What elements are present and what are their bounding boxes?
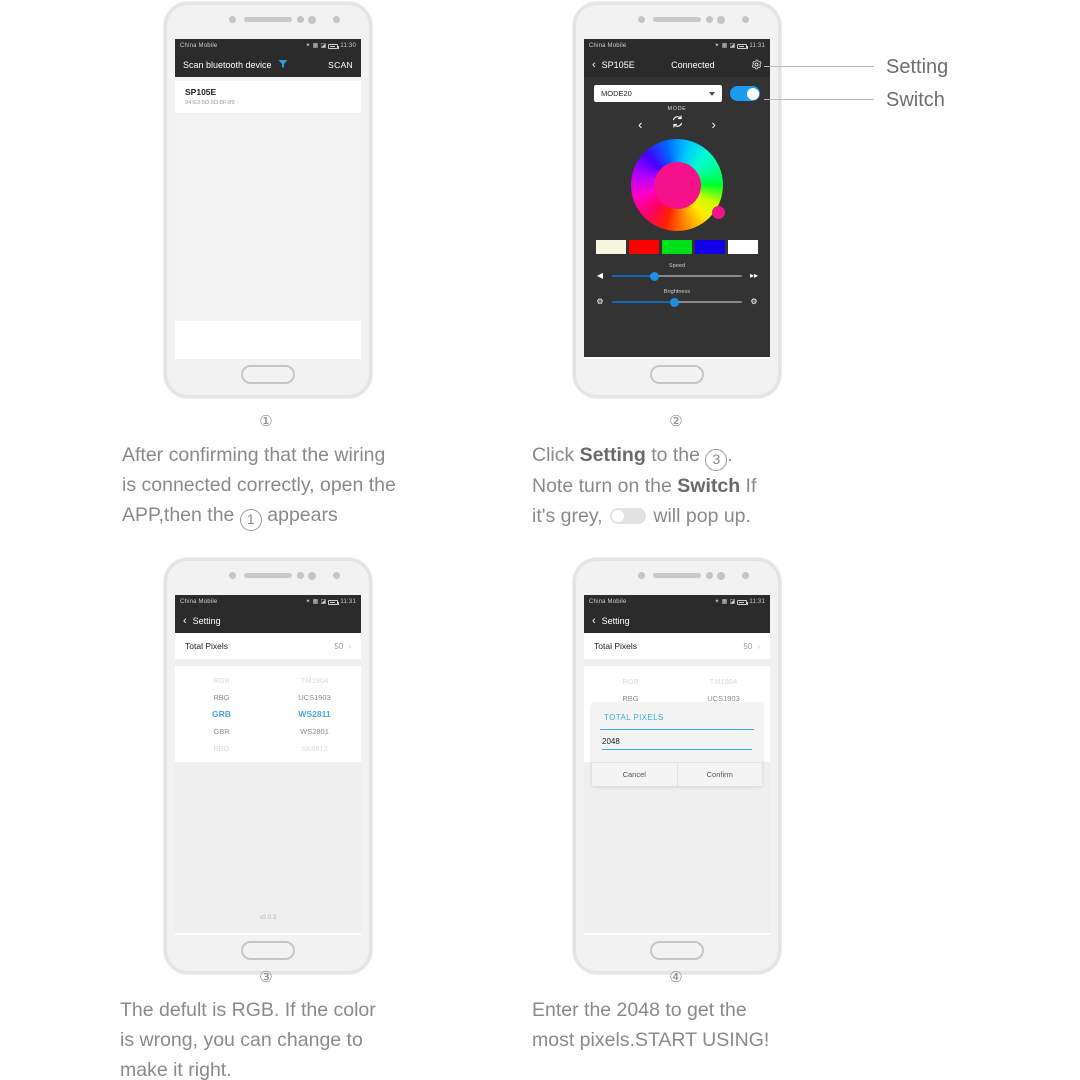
swatch-blue[interactable]	[695, 240, 725, 254]
earpiece-speaker	[244, 17, 292, 22]
sensor-dot-icon	[229, 572, 236, 579]
step-number-2: ②	[646, 412, 706, 430]
appbar-title: Scan bluetooth device	[183, 60, 272, 70]
caption-line: Click Setting to the 3.	[532, 440, 912, 471]
battery-icon	[737, 600, 747, 605]
swatch-warmwhite[interactable]	[596, 240, 626, 254]
sensor-dot-icon	[717, 16, 725, 24]
setting-appbar: ‹ Setting	[175, 609, 361, 633]
phone-bottom-bezel	[167, 359, 369, 395]
color-preview-circle	[654, 162, 701, 209]
clock-label: 11:31	[749, 43, 765, 49]
phone-2: China Mobile ✴ ▦ ◪ 11:31 ‹ SP105E Connec…	[573, 2, 781, 398]
battery-icon	[737, 44, 747, 49]
inline-step-marker: 1	[240, 509, 262, 531]
caption-line: The defult is RGB. If the color	[120, 995, 500, 1025]
earpiece-speaker	[653, 17, 701, 22]
funnel-icon[interactable]	[278, 59, 288, 71]
battery-icon	[328, 600, 338, 605]
picker-columns: RGB RBG GRB GBR BRG TM1804 UCS1903 WS281…	[175, 666, 361, 762]
total-pixels-dialog: TOTAL PIXELS 2048 Cancel Confirm	[592, 703, 762, 786]
color-swatch-row	[594, 240, 760, 254]
total-pixels-label: Total Pixels	[594, 641, 637, 651]
picker-item[interactable]: SK6812	[301, 741, 328, 756]
sensor-dot-icon	[638, 16, 645, 23]
back-label[interactable]: SP105E	[602, 60, 635, 70]
sensor-dot-icon	[308, 16, 316, 24]
step-number-4: ④	[646, 968, 706, 986]
step-number-1: ①	[236, 412, 296, 430]
dialog-divider	[600, 729, 754, 730]
front-camera-icon	[742, 572, 749, 579]
total-pixels-value: 50	[334, 642, 343, 651]
picker-item[interactable]: GBR	[213, 724, 229, 739]
caption-line: it's grey, will pop up.	[532, 501, 912, 531]
carrier-label: China Mobile	[589, 599, 626, 605]
gear-icon[interactable]: ⚙	[748, 298, 760, 306]
sim-icon: ▦	[313, 599, 319, 605]
brightness-slider-block: Brightness ⚙ ⚙	[594, 289, 760, 306]
earpiece-speaker	[244, 573, 292, 578]
callout-line-setting	[764, 66, 874, 67]
refresh-icon[interactable]	[671, 115, 684, 133]
caption-text: If	[746, 475, 757, 497]
chevron-right-icon: ›	[757, 642, 760, 651]
setting-title: Setting	[602, 616, 630, 626]
picker-column-order[interactable]: RGB RBG GRB GBR BRG	[175, 666, 268, 762]
caption-text: it's grey,	[532, 505, 603, 527]
clock-label: 11:30	[340, 43, 356, 49]
sim-icon: ▦	[722, 43, 728, 49]
picker-item[interactable]: RGB	[213, 673, 229, 688]
chevron-right-icon: ›	[348, 642, 351, 651]
speed-row: ◀ ▸▸	[594, 272, 760, 280]
phone-2-screen: China Mobile ✴ ▦ ◪ 11:31 ‹ SP105E Connec…	[584, 39, 770, 359]
sensor-dot-icon	[706, 16, 713, 23]
back-icon[interactable]: ‹	[592, 615, 596, 627]
picker-item-selected[interactable]: WS2811	[298, 707, 330, 722]
speed-thumb[interactable]	[650, 272, 659, 281]
caption-line: After confirming that the wiring	[122, 440, 492, 470]
signal-icon: ◪	[730, 43, 736, 49]
bluetooth-icon: ✴	[714, 43, 719, 49]
total-pixels-row[interactable]: Total Pixels 50 ›	[584, 633, 770, 659]
front-camera-icon	[333, 16, 340, 23]
home-button[interactable]	[650, 365, 704, 384]
phone-bottom-bezel	[576, 935, 778, 971]
phone-3: China Mobile ✴ ▦ ◪ 11:31 ‹ Setting Total…	[164, 558, 372, 974]
callout-line-switch	[764, 99, 874, 100]
step-number-3: ③	[236, 968, 296, 986]
cancel-button[interactable]: Cancel	[592, 763, 677, 786]
caption-emphasis: Setting	[580, 444, 646, 466]
setting-appbar: ‹ Setting	[584, 609, 770, 633]
setting-body: Total Pixels 50 › RGB RBG GRB GBR BRG	[175, 633, 361, 933]
speed-fill	[612, 275, 655, 277]
swatch-green[interactable]	[662, 240, 692, 254]
status-icons: ✴ ▦ ◪ 11:31	[714, 599, 765, 605]
bluetooth-icon: ✴	[714, 599, 719, 605]
picker-item-selected[interactable]: GRB	[212, 707, 231, 722]
app-version-label: v2.0.3	[175, 915, 361, 921]
caption-text: APP,then the	[122, 504, 234, 526]
mode-value: MODE20	[601, 89, 632, 98]
phone-bottom-bezel	[576, 359, 778, 395]
status-bar: China Mobile ✴ ▦ ◪ 11:31	[584, 39, 770, 53]
phone-4-screen: China Mobile ✴ ▦ ◪ 11:31 ‹ Setting Total…	[584, 595, 770, 935]
step-caption-4: Enter the 2048 to get the most pixels.ST…	[532, 995, 912, 1055]
brightness-label: Brightness	[594, 289, 760, 295]
total-pixels-label: Total Pixels	[185, 641, 228, 651]
confirm-button[interactable]: Confirm	[677, 763, 763, 786]
caption-line: most pixels.START USING!	[532, 1025, 912, 1055]
picker-item[interactable]: TM1804	[710, 674, 738, 689]
brightness-fill	[612, 301, 674, 303]
inline-step-marker: 3	[705, 449, 727, 471]
swatch-white[interactable]	[728, 240, 758, 254]
sensor-dot-icon	[308, 572, 316, 580]
phone-top-bezel	[167, 561, 369, 595]
brightness-row: ⚙ ⚙	[594, 298, 760, 306]
setting-title: Setting	[193, 616, 221, 626]
sim-icon: ▦	[722, 599, 728, 605]
phone-top-bezel	[576, 561, 778, 595]
caption-line: is connected correctly, open the	[122, 470, 492, 500]
picker-item[interactable]: BRG	[213, 741, 229, 756]
caption-line: APP,then the 1 appears	[122, 500, 492, 531]
sensor-dot-icon	[297, 572, 304, 579]
picker-item[interactable]: RBG	[213, 690, 229, 705]
signal-icon: ◪	[321, 599, 327, 605]
dialog-title: TOTAL PIXELS	[592, 713, 762, 729]
caption-text: Note turn on the	[532, 475, 672, 497]
status-icons: ✴ ▦ ◪ 11:31	[714, 43, 765, 49]
callout-label-setting: Setting	[886, 56, 948, 79]
step-caption-3: The defult is RGB. If the color is wrong…	[120, 995, 500, 1080]
picker-column-chip[interactable]: TM1804 UCS1903 WS2811 WS2801 SK6812	[268, 666, 361, 762]
gear-icon[interactable]	[751, 59, 762, 72]
dialog-actions: Cancel Confirm	[592, 762, 762, 786]
carrier-label: China Mobile	[180, 43, 217, 49]
phone-1-screen: China Mobile ✴ ▦ ◪ 11:30 Scan bluetooth …	[175, 39, 361, 359]
setting-body: Total Pixels 50 › RGB RBG TM1804 UCS1903	[584, 633, 770, 933]
status-bar: China Mobile ✴ ▦ ◪ 11:31	[584, 595, 770, 609]
chevron-right-icon[interactable]: ›	[712, 118, 716, 131]
sensor-dot-icon	[229, 16, 236, 23]
carrier-label: China Mobile	[589, 43, 626, 49]
speed-slider[interactable]	[612, 275, 742, 277]
sensor-dot-icon	[297, 16, 304, 23]
chip-type-picker[interactable]: RGB RBG GRB GBR BRG TM1804 UCS1903 WS281…	[175, 666, 361, 762]
connection-title: Connected	[671, 60, 715, 70]
battery-icon	[328, 44, 338, 49]
picker-item[interactable]: RGB	[622, 674, 638, 689]
speed-label: Speed	[594, 263, 760, 269]
caption-emphasis: Switch	[677, 475, 740, 497]
toggle-knob	[747, 88, 759, 100]
color-wheel-thumb[interactable]	[712, 206, 725, 219]
phone-top-bezel	[167, 5, 369, 39]
caption-line: Note turn on the Switch If	[532, 471, 912, 501]
device-list: SP105E 94:E3:5D:5D:8F:89	[175, 77, 361, 321]
controller-panel: MODE20 MODE ‹ ›	[584, 77, 770, 357]
back-icon[interactable]: ‹	[592, 59, 596, 71]
caption-line: is wrong, you can change to	[120, 1025, 500, 1055]
caption-text: .	[727, 444, 732, 466]
home-button[interactable]	[650, 941, 704, 960]
mode-caption: MODE	[594, 106, 760, 112]
fast-forward-icon[interactable]: ▸▸	[748, 272, 760, 280]
device-mac: 94:E3:5D:5D:8F:89	[185, 100, 351, 106]
picker-item[interactable]: WS2801	[300, 724, 329, 739]
status-bar: China Mobile ✴ ▦ ◪ 11:31	[175, 595, 361, 609]
rewind-icon[interactable]: ◀	[594, 272, 606, 280]
brightness-thumb[interactable]	[670, 298, 679, 307]
list-item[interactable]: SP105E 94:E3:5D:5D:8F:89	[175, 81, 361, 114]
sun-icon[interactable]: ⚙	[594, 298, 606, 306]
phone-4: China Mobile ✴ ▦ ◪ 11:31 ‹ Setting Total…	[573, 558, 781, 974]
mode-select[interactable]: MODE20	[594, 85, 722, 102]
swatch-red[interactable]	[629, 240, 659, 254]
scan-appbar: Scan bluetooth device SCAN	[175, 53, 361, 77]
picker-item[interactable]: UCS1903	[298, 690, 331, 705]
mode-nav-row: ‹ ›	[594, 115, 760, 133]
control-appbar: ‹ SP105E Connected	[584, 53, 770, 77]
status-icons: ✴ ▦ ◪ 11:31	[305, 599, 356, 605]
home-button[interactable]	[241, 365, 295, 384]
picker-item[interactable]: TM1804	[301, 673, 329, 688]
sensor-dot-icon	[638, 572, 645, 579]
clock-label: 11:31	[749, 599, 765, 605]
front-camera-icon	[742, 16, 749, 23]
status-bar: China Mobile ✴ ▦ ◪ 11:30	[175, 39, 361, 53]
sim-icon: ▦	[313, 43, 319, 49]
color-wheel-wrap	[594, 139, 760, 231]
total-pixels-input[interactable]: 2048	[602, 737, 752, 750]
signal-icon: ◪	[321, 43, 327, 49]
carrier-label: China Mobile	[180, 599, 217, 605]
phone-3-screen: China Mobile ✴ ▦ ◪ 11:31 ‹ Setting Total…	[175, 595, 361, 935]
signal-icon: ◪	[730, 599, 736, 605]
phone-top-bezel	[576, 5, 778, 39]
speed-slider-block: Speed ◀ ▸▸	[594, 263, 760, 280]
phone-bottom-bezel	[167, 935, 369, 971]
bluetooth-icon: ✴	[305, 43, 310, 49]
mode-bar: MODE20	[594, 85, 760, 102]
total-pixels-value: 50	[743, 642, 752, 651]
chevron-left-icon[interactable]: ‹	[638, 118, 642, 131]
device-name: SP105E	[185, 87, 351, 97]
sensor-dot-icon	[717, 572, 725, 580]
sensor-dot-icon	[706, 572, 713, 579]
scan-button[interactable]: SCAN	[328, 60, 353, 70]
color-wheel[interactable]	[631, 139, 723, 231]
front-camera-icon	[333, 572, 340, 579]
power-switch-toggle[interactable]	[730, 86, 760, 101]
caption-text: to the	[651, 444, 700, 466]
step-caption-1: After confirming that the wiring is conn…	[122, 440, 492, 531]
clock-label: 11:31	[340, 599, 356, 605]
inline-toggle-off-icon	[610, 508, 646, 524]
instruction-sheet: China Mobile ✴ ▦ ◪ 11:30 Scan bluetooth …	[0, 0, 1080, 1080]
caption-line: Enter the 2048 to get the	[532, 995, 912, 1025]
step-caption-2: Click Setting to the 3. Note turn on the…	[532, 440, 912, 531]
status-icons: ✴ ▦ ◪ 11:30	[305, 43, 356, 49]
callout-label-switch: Switch	[886, 89, 945, 112]
caption-line: make it right.	[120, 1055, 500, 1080]
bluetooth-icon: ✴	[305, 599, 310, 605]
caption-text: Click	[532, 444, 574, 466]
total-pixels-row[interactable]: Total Pixels 50 ›	[175, 633, 361, 659]
caption-text: appears	[267, 504, 337, 526]
brightness-slider[interactable]	[612, 301, 742, 303]
caption-text: will pop up.	[653, 505, 751, 527]
chevron-down-icon	[709, 92, 715, 96]
back-icon[interactable]: ‹	[183, 615, 187, 627]
phone-1: China Mobile ✴ ▦ ◪ 11:30 Scan bluetooth …	[164, 2, 372, 398]
home-button[interactable]	[241, 941, 295, 960]
earpiece-speaker	[653, 573, 701, 578]
